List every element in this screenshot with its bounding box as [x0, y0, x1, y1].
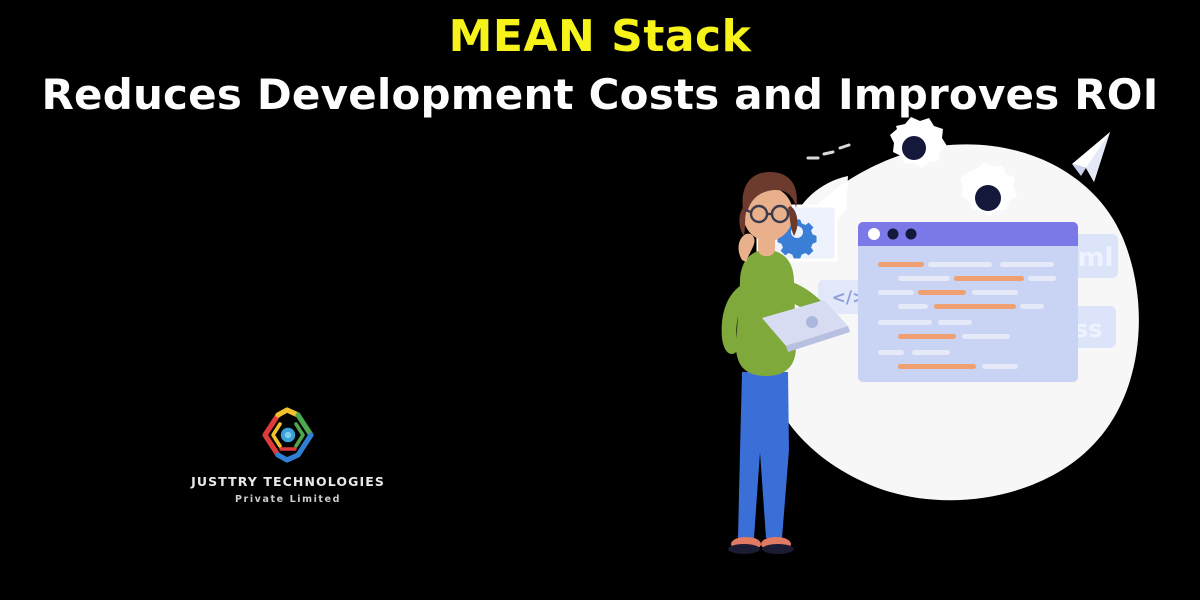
justtry-hexagon-logo-icon — [256, 404, 320, 466]
illustration-svg: </> html css — [690, 110, 1190, 580]
headline-block: MEAN Stack Reduces Development Costs and… — [0, 0, 1200, 118]
dotted-connector — [808, 145, 849, 158]
brand-logo-lockup[interactable]: JUSTTRY TECHNOLOGIES Private Limited — [188, 404, 388, 505]
paper-plane-icon — [1072, 132, 1110, 182]
brand-name: JUSTTRY TECHNOLOGIES — [188, 474, 388, 489]
window-dot-1 — [868, 228, 880, 240]
brand-suffix: Private Limited — [188, 494, 388, 505]
mean-stack-banner: MEAN Stack Reduces Development Costs and… — [0, 0, 1200, 600]
page-title-secondary: Reduces Development Costs and Improves R… — [0, 60, 1200, 118]
window-dot-2 — [888, 229, 899, 240]
page-title-primary: MEAN Stack — [0, 0, 1200, 60]
code-editor-window — [858, 222, 1078, 382]
developer-coding-illustration: </> html css — [690, 110, 1190, 580]
window-dot-3 — [906, 229, 917, 240]
